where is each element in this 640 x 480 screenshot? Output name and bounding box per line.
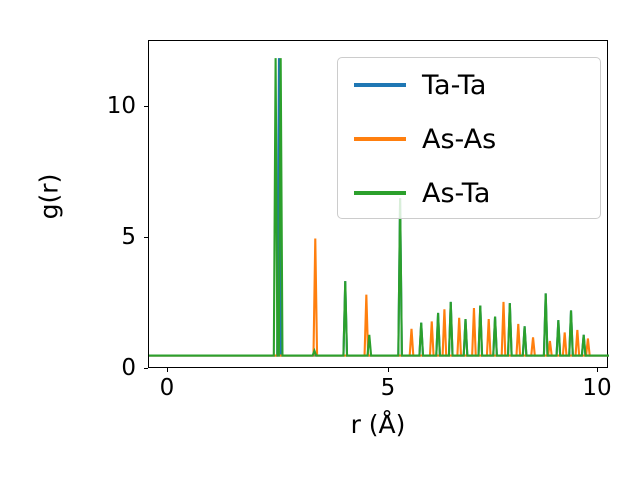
y-axis-label: g(r) xyxy=(35,117,64,277)
xtick-label-10: 10 xyxy=(567,374,627,402)
ytick-label-10: 10 xyxy=(78,94,136,118)
legend-label-ta-ta: Ta-Ta xyxy=(422,70,486,101)
legend-label-as-ta: As-Ta xyxy=(422,178,490,209)
ytick-label-5: 5 xyxy=(78,225,136,249)
xtick-label-5: 5 xyxy=(358,374,418,402)
ytick-mark-0 xyxy=(144,368,148,369)
xtick-label-0: 0 xyxy=(137,374,197,402)
ytick-mark-10 xyxy=(144,106,148,107)
xtick-mark-5 xyxy=(388,368,389,372)
legend-entry-as-ta[interactable]: As-Ta xyxy=(338,166,600,220)
legend-swatch-ta-ta xyxy=(354,83,406,86)
figure-canvas: 0 5 10 0 5 10 r (Å) g(r) Ta-Ta As-As As-… xyxy=(0,0,640,480)
legend-label-as-as: As-As xyxy=(422,124,496,155)
ytick-label-0: 0 xyxy=(78,356,136,380)
ytick-mark-5 xyxy=(144,237,148,238)
legend-entry-as-as[interactable]: As-As xyxy=(338,112,600,166)
xtick-mark-10 xyxy=(597,368,598,372)
legend-entry-ta-ta[interactable]: Ta-Ta xyxy=(338,58,600,112)
x-axis-label: r (Å) xyxy=(148,410,608,439)
legend-swatch-as-ta xyxy=(354,191,406,194)
legend-box: Ta-Ta As-As As-Ta xyxy=(337,57,601,219)
legend-swatch-as-as xyxy=(354,137,406,140)
series-line-as-as xyxy=(149,239,609,356)
xtick-mark-0 xyxy=(167,368,168,372)
